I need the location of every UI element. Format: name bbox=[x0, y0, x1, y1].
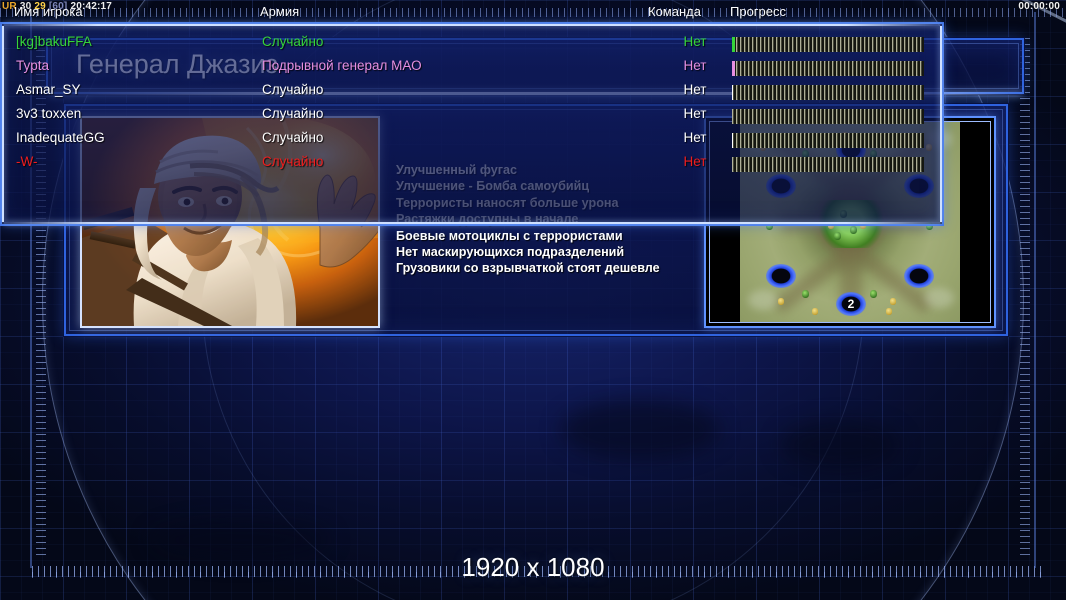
table-row[interactable]: 3v3 toxxenСлучайноНет bbox=[2, 106, 942, 130]
player-name: -W- bbox=[16, 154, 38, 169]
player-name: [kg]bakuFFA bbox=[16, 34, 92, 49]
progress-bar-fill bbox=[732, 37, 735, 52]
minimap-start-position-2: 2 bbox=[836, 292, 866, 316]
player-team: Нет bbox=[662, 130, 728, 145]
player-progress-bar bbox=[732, 85, 924, 100]
game-lobby-screen: UR 30 29 [60] 20:42:17 00:00:00 Генерал … bbox=[0, 0, 1066, 600]
player-team: Нет bbox=[662, 106, 728, 121]
description-line: Боевые мотоциклы с террористами bbox=[396, 228, 756, 244]
player-army: Случайно bbox=[262, 130, 323, 145]
column-header-team: Команда bbox=[648, 4, 701, 19]
player-army: Случайно bbox=[262, 82, 323, 97]
player-progress-bar bbox=[732, 37, 924, 52]
column-header-progress: Прогресс bbox=[730, 4, 786, 19]
player-army: Случайно bbox=[262, 106, 323, 121]
player-name: Typta bbox=[16, 58, 49, 73]
progress-bar-stripes bbox=[732, 109, 924, 124]
player-team: Нет bbox=[662, 58, 728, 73]
minimap-position-number: 2 bbox=[836, 292, 866, 316]
progress-bar-fill bbox=[732, 85, 733, 100]
table-row[interactable]: InadequateGGСлучайноНет bbox=[2, 130, 942, 154]
background-blot bbox=[780, 420, 900, 470]
description-line: Грузовики со взрывчаткой стоят дешевле bbox=[396, 260, 756, 276]
description-line: Нет маскирующихся подразделений bbox=[396, 244, 756, 260]
table-row[interactable]: TyptaПодрывной генерал МАОНет bbox=[2, 58, 942, 82]
player-list-panel: Имя игрока Армия Команда Прогресс [kg]ba… bbox=[0, 0, 940, 222]
background-blot bbox=[560, 400, 720, 460]
progress-bar-fill bbox=[732, 133, 733, 148]
progress-bar-stripes bbox=[732, 157, 924, 172]
column-header-name: Имя игрока bbox=[14, 4, 83, 19]
ruler-top bbox=[0, 8, 1066, 17]
minimap-start-position bbox=[766, 264, 796, 288]
table-row[interactable]: Asmar_SYСлучайноНет bbox=[2, 82, 942, 106]
player-list-frame: [kg]bakuFFAСлучайноНетTyptaПодрывной ген… bbox=[0, 22, 944, 226]
table-row[interactable]: [kg]bakuFFAСлучайноНет bbox=[2, 34, 942, 58]
player-progress-bar bbox=[732, 133, 924, 148]
player-name: Asmar_SY bbox=[16, 82, 81, 97]
ruler-right bbox=[1020, 38, 1030, 558]
player-team: Нет bbox=[662, 154, 728, 169]
frame-edge-top bbox=[4, 24, 940, 26]
resolution-label: 1920 x 1080 bbox=[0, 552, 1066, 583]
progress-bar-stripes bbox=[732, 85, 924, 100]
table-row[interactable]: -W-СлучайноНет bbox=[2, 154, 942, 178]
progress-bar-fill bbox=[732, 61, 735, 76]
progress-bar-stripes bbox=[732, 133, 924, 148]
player-army: Подрывной генерал МАО bbox=[262, 58, 422, 73]
match-timer: 00:00:00 bbox=[1018, 1, 1060, 12]
player-progress-bar bbox=[732, 61, 924, 76]
progress-bar-stripes bbox=[732, 61, 924, 76]
player-progress-bar bbox=[732, 109, 924, 124]
column-header-army: Армия bbox=[260, 4, 299, 19]
player-progress-bar bbox=[732, 157, 924, 172]
player-team: Нет bbox=[662, 34, 728, 49]
progress-bar-stripes bbox=[732, 37, 924, 52]
player-army: Случайно bbox=[262, 34, 323, 49]
minimap-start-position bbox=[904, 264, 934, 288]
frame-line-right bbox=[1034, 12, 1036, 568]
frame-edge-bottom bbox=[4, 222, 940, 224]
player-team: Нет bbox=[662, 82, 728, 97]
player-name: InadequateGG bbox=[16, 130, 105, 145]
player-army: Случайно bbox=[262, 154, 323, 169]
player-name: 3v3 toxxen bbox=[16, 106, 81, 121]
